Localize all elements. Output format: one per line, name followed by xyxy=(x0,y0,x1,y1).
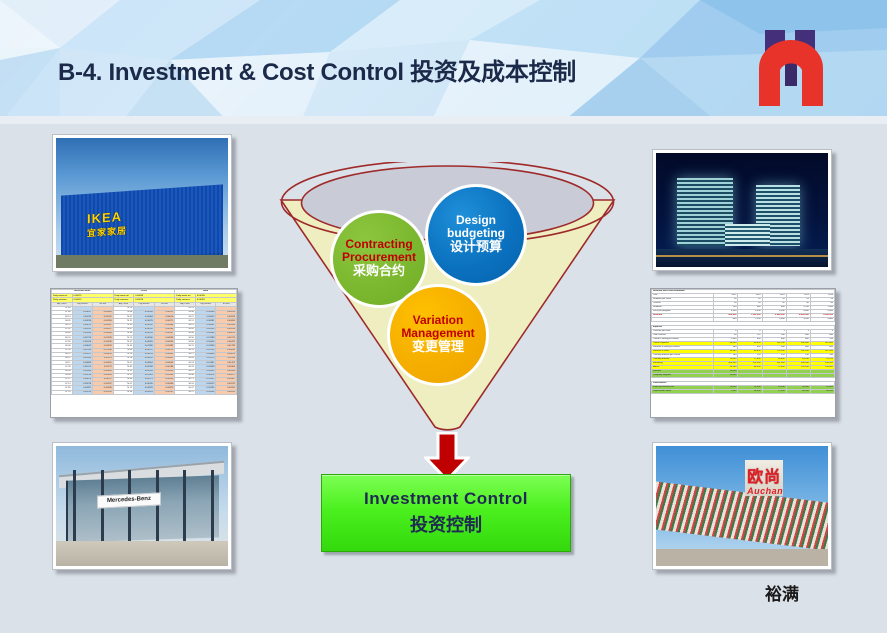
mercedes-column xyxy=(156,470,159,544)
photo-night-towers xyxy=(652,149,832,271)
slide-header-banner: B-4. Investment & Cost Control 投资及成本控制 xyxy=(0,0,887,124)
investment-control-result-box[interactable]: Investment Control 投资控制 xyxy=(321,474,571,552)
circle-label-cn: 采购合约 xyxy=(353,264,405,280)
towers-road-lights xyxy=(656,255,828,257)
table-cell: 0.00750 xyxy=(72,390,93,394)
table-row: Depreciation value2,00018,00017,40048,20… xyxy=(652,390,835,394)
spreadsheet-revenue-profit: Revenue and Profit EstimationYear2012201… xyxy=(650,288,836,418)
company-logo-icon xyxy=(755,28,827,108)
title-prefix: B-4. xyxy=(58,59,102,86)
circle-label-cn: 变更管理 xyxy=(412,340,464,356)
table-cell: 34.21 xyxy=(175,390,196,394)
table-cell: 0.00100 xyxy=(93,390,114,394)
table-body-revenue-profit: Revenue and Profit EstimationYear2012201… xyxy=(652,290,835,394)
towers-ground xyxy=(656,249,828,267)
header-bottom-strip xyxy=(0,116,887,124)
table-row: 57.310.007500.0010070.360.001830.0019734… xyxy=(52,390,237,394)
table-cell: 70.36 xyxy=(113,390,134,394)
table-car-statistics: Mercedes-Benz Lexus Audi Daily mean ret … xyxy=(51,289,237,395)
ikea-signage: IKEA 宜家家居 xyxy=(87,208,127,239)
result-label-cn: 投资控制 xyxy=(410,511,482,537)
circle-label-en: Variation Management xyxy=(401,314,474,340)
photo-auchan-store: 欧尚 Auchan xyxy=(652,442,832,570)
mercedes-column xyxy=(128,470,131,544)
table-cell: 57.31 xyxy=(52,390,73,394)
mercedes-column xyxy=(183,470,186,544)
table-cell: 17,400 xyxy=(762,390,786,394)
auchan-signage-cn: 欧尚 xyxy=(747,463,781,487)
spreadsheet-car-statistics: Mercedes-Benz Lexus Audi Daily mean ret … xyxy=(50,288,238,418)
mercedes-column xyxy=(73,470,76,544)
table-cell: 0.00183 xyxy=(134,390,155,394)
table-cell: 48,200 xyxy=(786,390,810,394)
table-revenue-profit: Revenue and Profit EstimationYear2012201… xyxy=(651,289,835,394)
table-cell: 2,000 xyxy=(714,390,738,394)
row-label-cell: Depreciation value xyxy=(652,390,714,394)
mercedes-glass-facade xyxy=(66,476,219,544)
page-title: B-4. Investment & Cost Control 投资及成本控制 xyxy=(58,52,576,87)
auchan-signage-en: Auchan xyxy=(747,486,783,496)
circle-variation-management[interactable]: Variation Management 变更管理 xyxy=(387,284,489,386)
photo-mercedes-showroom: Mercedes-Benz xyxy=(52,442,232,570)
mercedes-ground xyxy=(56,541,228,566)
mercedes-column xyxy=(211,470,214,544)
table-cell: 18,000 xyxy=(738,390,762,394)
circle-label-cn: 设计预算 xyxy=(450,240,502,256)
ikea-ground xyxy=(56,255,228,268)
title-chinese: 投资及成本控制 xyxy=(410,58,576,86)
circle-design-budgeting[interactable]: Design budgeting 设计预算 xyxy=(425,184,527,286)
funnel-diagram: Contracting Procurement 采购合约 Design budg… xyxy=(275,162,620,452)
table-body-car-statistics: 57.4070.2033.7557.880.006370.0056070.680… xyxy=(52,306,237,394)
circle-label-en: Design budgeting xyxy=(447,214,505,240)
footer-company-name: 裕满 xyxy=(765,580,799,605)
table-cell: 0.00197 xyxy=(154,390,175,394)
circle-label-en: Contracting Procurement xyxy=(342,238,416,264)
table-cell: 36,200 xyxy=(810,390,834,394)
photo-ikea-store: IKEA 宜家家居 xyxy=(52,134,232,272)
table-cell: 0.00515 xyxy=(216,390,237,394)
title-english: Investment & Cost Control xyxy=(109,59,404,86)
presentation-slide: B-4. Investment & Cost Control 投资及成本控制 I… xyxy=(0,0,887,633)
table-cell: 0.00536 xyxy=(195,390,216,394)
ikea-building-front xyxy=(61,184,223,263)
tower-podium xyxy=(725,224,770,247)
auchan-ground xyxy=(656,549,828,566)
result-label-en: Investment Control xyxy=(364,489,528,509)
